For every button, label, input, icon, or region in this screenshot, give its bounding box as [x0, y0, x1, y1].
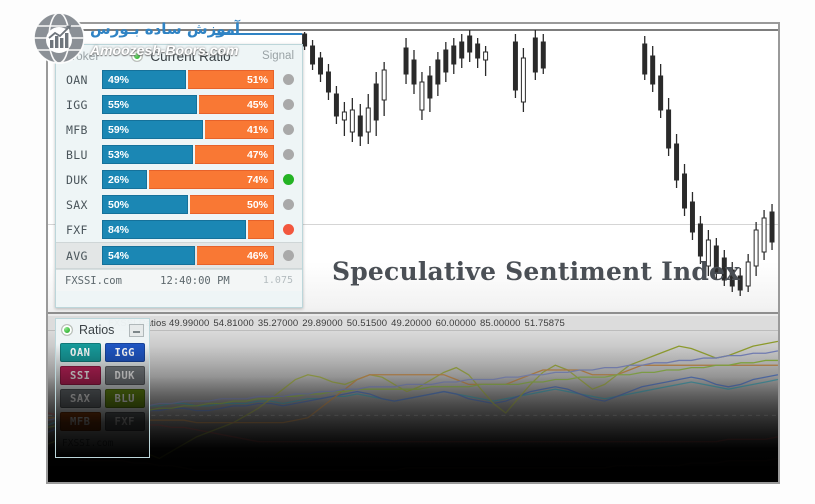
- long-ratio-bar: 53%: [102, 145, 193, 164]
- broker-name: FXF: [66, 223, 102, 237]
- long-ratio-bar: 49%: [102, 70, 186, 89]
- ratio-bar-group: 26%74%: [102, 170, 274, 189]
- short-ratio-bar: 45%: [199, 95, 274, 114]
- ratio-line-sax: [48, 365, 778, 422]
- ratio-row[interactable]: OAN49%51%: [56, 67, 302, 92]
- indicator-value: 54.81000: [213, 318, 253, 329]
- ratio-bar-group: 49%51%: [102, 70, 274, 89]
- ratio-line-fxf: [48, 351, 778, 420]
- long-ratio-bar: 55%: [102, 95, 197, 114]
- broker-name: OAN: [66, 73, 102, 87]
- ratios-footer-site: FXSSI.com: [56, 433, 149, 449]
- ratio-panel-footer: FXSSI.com 12:40:00 PM 1.075: [56, 269, 302, 291]
- indicator-value: 49.99000: [169, 318, 209, 329]
- indicator-value: 60.00000: [436, 318, 476, 329]
- short-ratio-bar: 51%: [188, 70, 274, 89]
- current-ratio-panel[interactable]: Broker Current Ratio Signal OAN49%51%IGG…: [55, 44, 303, 308]
- short-ratio-bar: [248, 220, 274, 239]
- ratio-toggle-duk[interactable]: DUK: [105, 366, 146, 385]
- short-ratio-bar: 50%: [190, 195, 274, 214]
- chart-bottom-divider: [48, 312, 778, 314]
- signal-dot-none: [283, 74, 294, 85]
- indicator-value: 35.27000: [258, 318, 298, 329]
- signal-dot-none: [283, 99, 294, 110]
- indicator-pane: FXSSI.Ratios 49.9900054.8100035.2700029.…: [48, 316, 778, 482]
- short-ratio-bar: 74%: [149, 170, 274, 189]
- signal-dot-none: [283, 250, 294, 261]
- server-time: 12:40:00 PM: [127, 275, 263, 287]
- broker-name: MFB: [66, 123, 102, 137]
- broker-name: AVG: [66, 249, 102, 263]
- ratio-bar-group: 50%50%: [102, 195, 274, 214]
- long-ratio-bar: 54%: [102, 246, 195, 265]
- signal-dot-none: [283, 199, 294, 210]
- page-title: Speculative Sentiment Index: [332, 257, 740, 286]
- ratio-toggle-mfb[interactable]: MFB: [60, 412, 101, 431]
- ratio-row[interactable]: MFB59%41%: [56, 117, 302, 142]
- indicator-value: 50.51500: [347, 318, 387, 329]
- short-ratio-bar: 47%: [195, 145, 274, 164]
- ratio-row-average[interactable]: AVG54%46%: [56, 242, 302, 269]
- ratio-bar-group: 55%45%: [102, 95, 274, 114]
- signal-dot-buy: [283, 174, 294, 185]
- ratio-toggle-igg[interactable]: IGG: [105, 343, 146, 362]
- screenshot-root: Speculative Sentiment Index FXSSI.Ratios…: [0, 0, 815, 504]
- broker-name: BLU: [66, 148, 102, 162]
- ratio-rows-list: OAN49%51%IGG55%45%MFB59%41%BLU53%47%DUK2…: [56, 67, 302, 269]
- indicator-data-header: FXSSI.Ratios 49.9900054.8100035.2700029.…: [48, 316, 778, 331]
- ratio-toggle-blu[interactable]: BLU: [105, 389, 146, 408]
- ratio-row[interactable]: BLU53%47%: [56, 142, 302, 167]
- indicator-value: 85.00000: [480, 318, 520, 329]
- ratios-panel-header: Ratios: [56, 319, 149, 341]
- ratios-line-series: [48, 331, 778, 482]
- signal-dot-sell: [283, 224, 294, 235]
- price-value: 1.075: [263, 275, 293, 286]
- broker-name: IGG: [66, 98, 102, 112]
- indicator-value: 49.20000: [391, 318, 431, 329]
- ratio-row[interactable]: DUK26%74%: [56, 167, 302, 192]
- broker-name: SAX: [66, 198, 102, 212]
- signal-column-label: Signal: [262, 50, 294, 62]
- signal-dot-none: [283, 124, 294, 135]
- ratio-row[interactable]: IGG55%45%: [56, 92, 302, 117]
- ratio-toggle-fxf[interactable]: FXF: [105, 412, 146, 431]
- ratio-line-blu: [48, 360, 778, 427]
- ratio-line-oan: [48, 380, 778, 425]
- signal-dot-none: [283, 149, 294, 160]
- radio-selected-green-icon[interactable]: [131, 50, 143, 62]
- broker-name: DUK: [66, 173, 102, 187]
- ratio-bar-group: 59%41%: [102, 120, 274, 139]
- current-ratio-title: Current Ratio: [150, 49, 230, 64]
- short-ratio-bar: 41%: [205, 120, 274, 139]
- ratio-bar-group: 84%: [102, 220, 274, 239]
- short-ratio-bar: 46%: [197, 246, 274, 265]
- ratios-title: Ratios: [79, 323, 123, 337]
- ratio-toggle-sax[interactable]: SAX: [60, 389, 101, 408]
- long-ratio-bar: 59%: [102, 120, 203, 139]
- ratio-toggle-oan[interactable]: OAN: [60, 343, 101, 362]
- ratios-legend-panel[interactable]: Ratios OANIGGSSIDUKSAXBLUMFBFXF FXSSI.co…: [55, 318, 150, 458]
- indicator-values: 49.9900054.8100035.2700029.8900050.51500…: [169, 318, 569, 329]
- long-ratio-bar: 84%: [102, 220, 246, 239]
- radio-selected-green-icon[interactable]: [61, 324, 73, 336]
- ratio-bar-group: 54%46%: [102, 246, 274, 265]
- indicator-value: 29.89000: [302, 318, 342, 329]
- long-ratio-bar: 50%: [102, 195, 188, 214]
- minimize-icon[interactable]: [129, 324, 144, 337]
- ratio-row[interactable]: SAX50%50%: [56, 192, 302, 217]
- ratio-toggle-ssi[interactable]: SSI: [60, 366, 101, 385]
- ratios-button-grid: OANIGGSSIDUKSAXBLUMFBFXF: [56, 341, 149, 433]
- indicator-value: 51.75875: [524, 318, 564, 329]
- ratio-row[interactable]: FXF84%: [56, 217, 302, 242]
- ratio-panel-header: Broker Current Ratio Signal: [56, 45, 302, 67]
- current-ratio-title-group: Current Ratio: [100, 49, 262, 64]
- long-ratio-bar: 26%: [102, 170, 147, 189]
- ratio-bar-group: 53%47%: [102, 145, 274, 164]
- ratio-line-ssi: [48, 413, 778, 442]
- ratio-line-duk: [48, 341, 778, 458]
